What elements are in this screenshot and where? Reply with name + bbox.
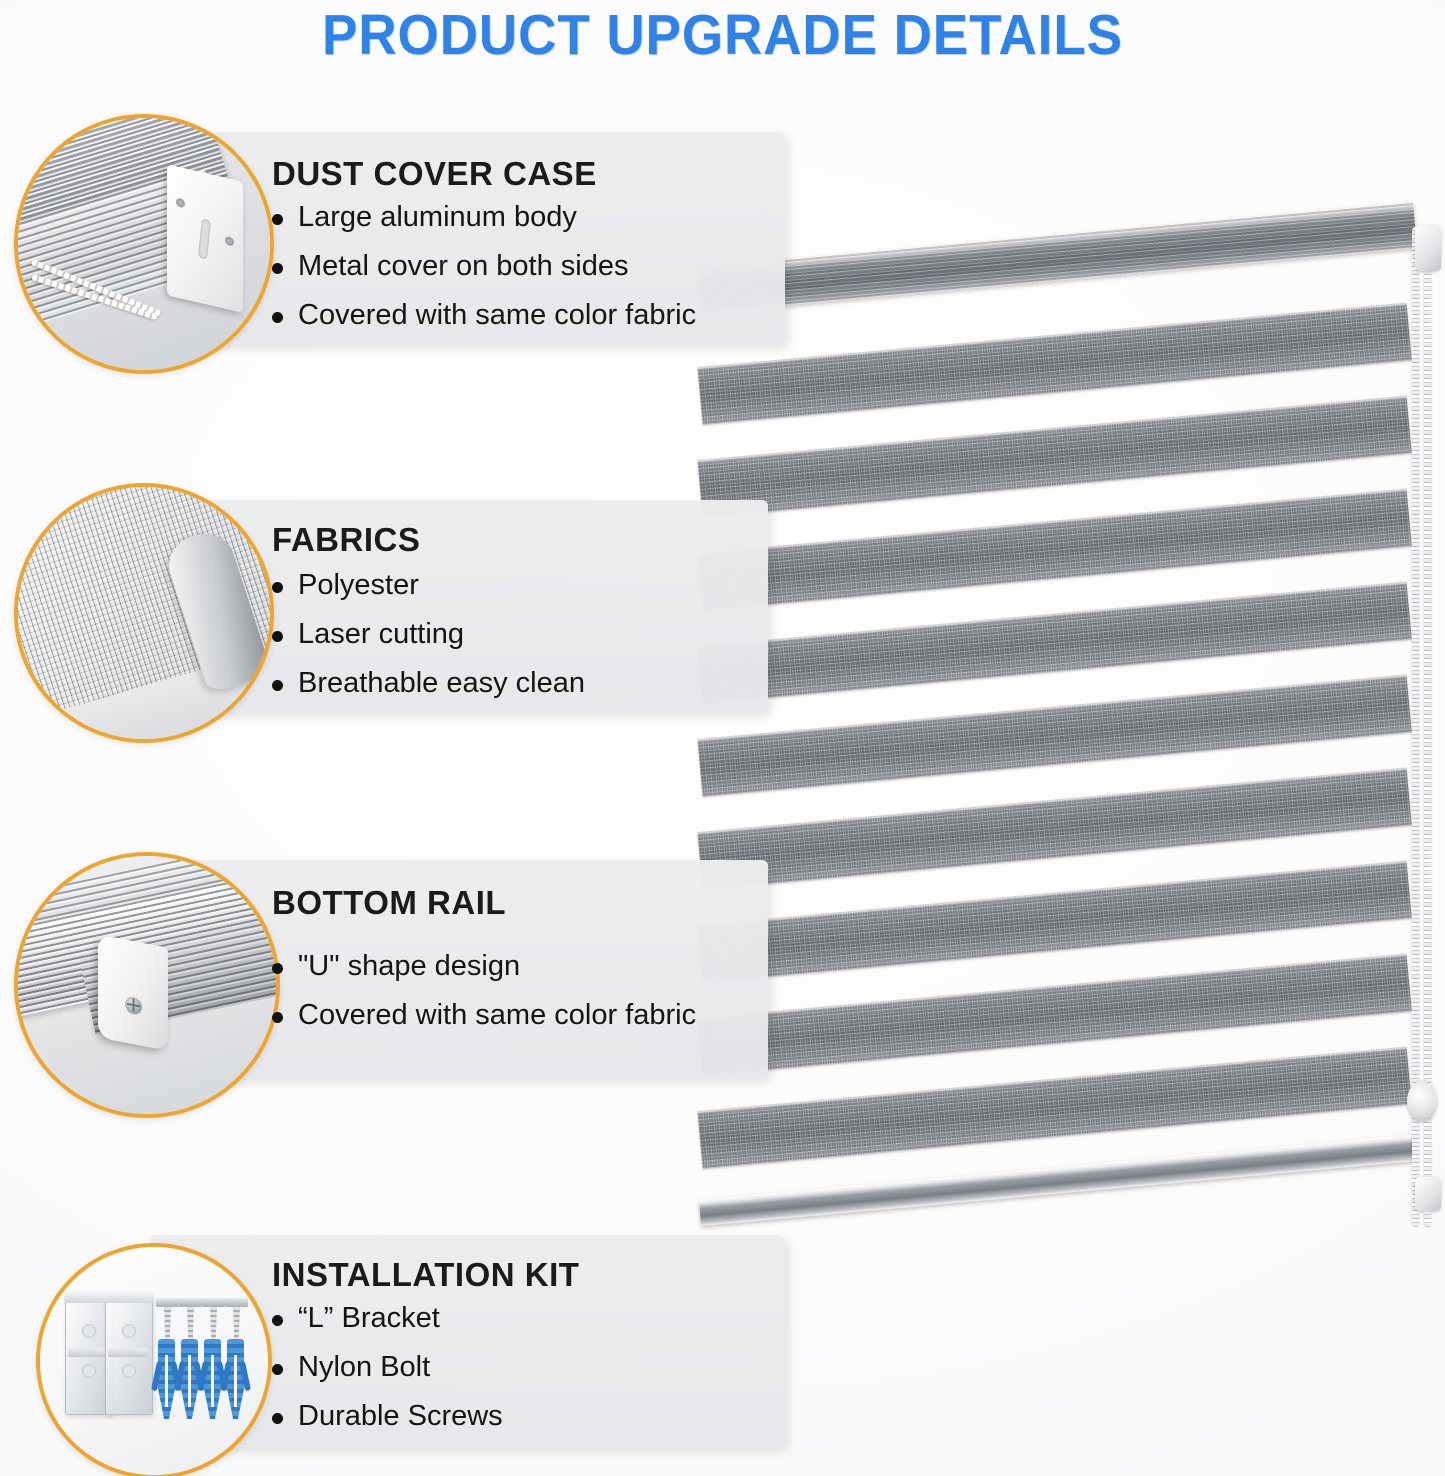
bullet-text: Large aluminum body xyxy=(298,203,577,232)
feature-photo-dust-cover-case xyxy=(14,114,274,374)
list-item: Breathable easy clean xyxy=(272,669,585,698)
list-item: Polyester xyxy=(272,571,585,600)
blind-headrail xyxy=(698,202,1417,313)
list-item: Metal cover on both sides xyxy=(272,252,696,281)
bullet-dot-icon xyxy=(272,263,283,274)
list-item: Covered with same color fabric xyxy=(272,1001,696,1030)
bullet-text: Breathable easy clean xyxy=(298,669,585,698)
bullet-dot-icon xyxy=(272,582,283,593)
page-title: PRODUCT UPGRADE DETAILS xyxy=(51,0,1395,70)
list-item: Large aluminum body xyxy=(272,203,696,232)
bullet-dot-icon xyxy=(272,1364,283,1375)
feature-photo-fabrics xyxy=(14,483,274,743)
bullet-text: Laser cutting xyxy=(298,620,464,649)
bullet-text: Polyester xyxy=(298,571,419,600)
bottom-rail-photo xyxy=(18,856,276,1114)
feature-photo-installation-kit xyxy=(36,1243,272,1476)
bullet-dot-icon xyxy=(272,680,283,691)
bullet-dot-icon xyxy=(272,1012,283,1023)
bullet-text: “L” Bracket xyxy=(298,1304,440,1333)
wall-anchor xyxy=(181,1339,198,1419)
headrail-end-cap xyxy=(1415,225,1441,271)
infographic-canvas: PRODUCT UPGRADE DETAILS xyxy=(0,0,1445,1476)
bullet-text: Covered with same color fabric xyxy=(298,301,696,330)
feature-title-dust-cover-case: DUST COVER CASE xyxy=(272,155,597,193)
bullet-dot-icon xyxy=(272,1413,283,1424)
bullet-text: Durable Screws xyxy=(298,1402,503,1431)
bullet-dot-icon xyxy=(272,1315,283,1326)
feature-title-bottom-rail: BOTTOM RAIL xyxy=(272,884,506,922)
bead-chain-back[interactable] xyxy=(1424,227,1431,1227)
wall-anchor xyxy=(158,1339,175,1419)
bullet-dot-icon xyxy=(272,631,283,642)
feature-title-fabrics: FABRICS xyxy=(272,521,420,559)
feature-photo-bottom-rail xyxy=(14,852,280,1118)
bullet-text: Metal cover on both sides xyxy=(298,252,628,281)
list-item: "U" shape design xyxy=(272,952,696,981)
wall-anchor xyxy=(227,1339,244,1419)
list-item: Laser cutting xyxy=(272,620,585,649)
list-item: Nylon Bolt xyxy=(272,1353,503,1382)
bullet-text: "U" shape design xyxy=(298,952,520,981)
bullet-text: Nylon Bolt xyxy=(298,1353,430,1382)
installation-kit-photo xyxy=(40,1247,268,1475)
list-item: “L” Bracket xyxy=(272,1304,503,1333)
feature-bullets-fabrics: Polyester Laser cutting Breathable easy … xyxy=(272,571,585,718)
bullet-dot-icon xyxy=(272,214,283,225)
bullet-dot-icon xyxy=(272,312,283,323)
list-item: Covered with same color fabric xyxy=(272,301,696,330)
bottom-rail-end-cap xyxy=(1415,1177,1441,1211)
dust-cover-case-photo xyxy=(18,118,270,370)
feature-bullets-dust-cover-case: Large aluminum body Metal cover on both … xyxy=(272,203,696,350)
wall-anchor xyxy=(204,1339,221,1419)
list-item: Durable Screws xyxy=(272,1402,503,1431)
cord-tensioner[interactable] xyxy=(1407,1081,1437,1121)
l-bracket xyxy=(105,1295,153,1415)
feature-title-installation-kit: INSTALLATION KIT xyxy=(272,1256,579,1294)
blind-fabric-stack xyxy=(700,215,1445,1295)
bead-chain-front[interactable] xyxy=(1412,227,1419,1227)
bullet-dot-icon xyxy=(272,963,283,974)
feature-bullets-bottom-rail: "U" shape design Covered with same color… xyxy=(272,952,696,1050)
fabrics-photo xyxy=(18,487,270,739)
bullet-text: Covered with same color fabric xyxy=(298,1001,696,1030)
feature-bullets-installation-kit: “L” Bracket Nylon Bolt Durable Screws xyxy=(272,1304,503,1451)
product-image-zebra-blind xyxy=(700,215,1445,1295)
